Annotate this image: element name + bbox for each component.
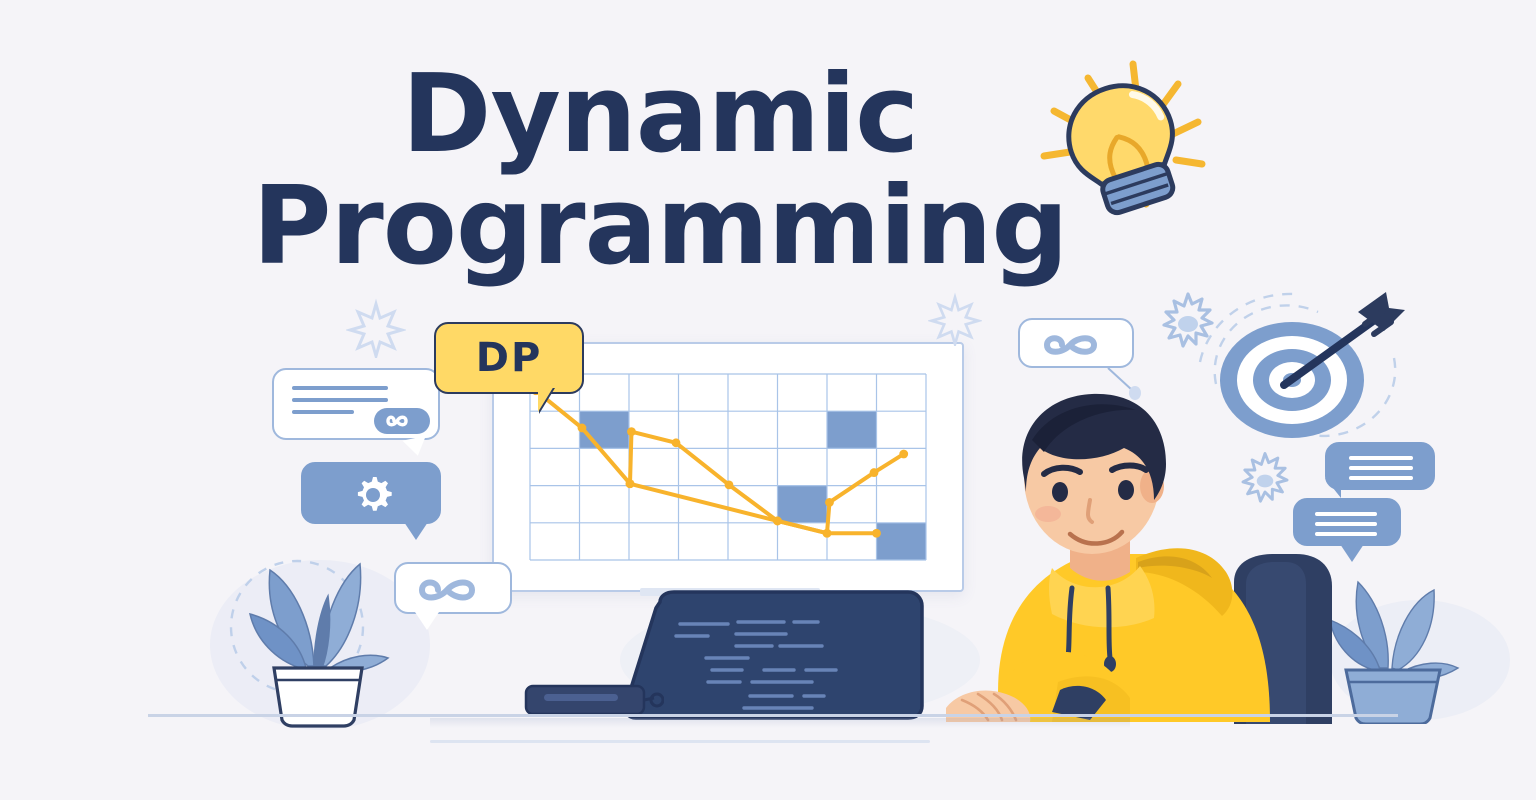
dp-path-point [672,438,681,447]
bubble-text-line [1349,466,1413,470]
dp-path-point [825,498,834,507]
dp-path-point [823,529,832,538]
infinity-icon [1041,331,1113,359]
infinity-icon [416,575,490,605]
dp-path-point [773,517,782,526]
bubble-text-line [1349,476,1413,480]
gear-outline-icon [1152,288,1224,360]
message-bubble-infinity-left-tail [415,612,439,630]
sparkle-icon [346,298,406,358]
lightbulb-icon [1026,56,1206,226]
bubble-text-line [1315,532,1377,536]
bubble-pill-badge [374,408,430,434]
dp-path-point [627,427,636,436]
message-bubble-right-upper[interactable] [1325,442,1435,490]
title-line-1: Dynamic [160,62,1160,168]
bubble-text-line [292,398,388,402]
dp-badge[interactable]: DP [434,322,584,394]
dp-path-point [626,479,635,488]
sparkle-icon [928,292,982,346]
potted-plant-left [236,548,396,728]
message-bubble-left-top[interactable] [272,368,440,440]
dp-cell-highlighted [778,486,828,523]
dp-path-line [630,454,904,533]
bubble-text-line [1315,522,1377,526]
message-bubble-right-lower[interactable] [1293,498,1401,546]
dp-path-point [872,529,881,538]
infinity-icon [385,413,419,429]
gear-icon [351,473,395,517]
phone-on-desk[interactable] [524,682,664,718]
dp-cell-highlighted [877,523,927,560]
desk-surface [148,714,1398,717]
bubble-text-line [292,410,354,414]
person-coding [940,382,1290,722]
dp-cell-highlighted [827,411,877,448]
desk-surface-highlight [430,740,930,743]
bubble-text-line [292,386,388,390]
dp-badge-tail [538,386,554,412]
desk-shadow [430,718,1130,728]
title-line-2: Programming [160,174,1160,280]
bubble-text-line [1315,512,1377,516]
message-bubble-right-upper-tail [1325,478,1341,498]
dp-path-point [870,468,879,477]
page-title: Dynamic Programming [160,62,1160,280]
illustration-canvas: Dynamic Programming DP [0,0,1536,800]
dp-path-point [899,450,908,459]
laptop[interactable] [616,588,956,724]
message-bubble-gear-tail [404,522,428,540]
dp-path-point [725,480,734,489]
dp-cell-highlighted [580,411,630,448]
message-bubble-infinity-left[interactable] [394,562,512,614]
message-bubble-infinity-right[interactable] [1018,318,1134,368]
bubble-text-line [1349,456,1413,460]
dp-path-point [578,424,587,433]
message-bubble-left-top-tail [402,436,429,459]
message-bubble-gear[interactable] [301,462,441,524]
